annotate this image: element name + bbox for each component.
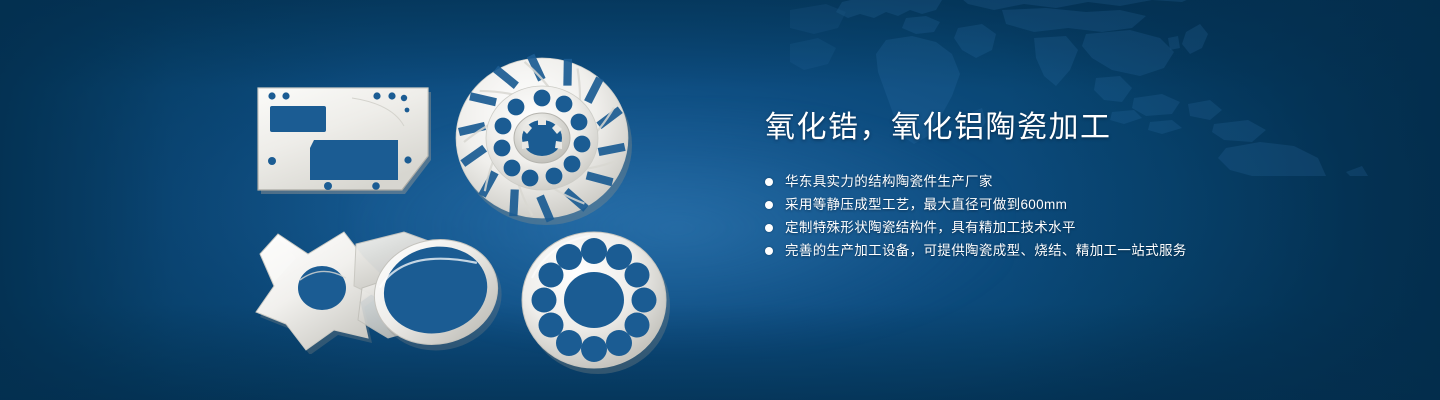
bullet-dot-icon	[765, 178, 773, 186]
ceramic-perforated-flange-image	[516, 228, 672, 374]
page-title: 氧化锆，氧化铝陶瓷加工	[765, 108, 1365, 148]
ceramic-machined-plate-image	[252, 78, 438, 200]
ceramic-products-group	[0, 0, 720, 400]
bullet-dot-icon	[765, 247, 773, 255]
feature-text: 华东具实力的结构陶瓷件生产厂家	[785, 170, 993, 193]
list-item: 完善的生产加工设备，可提供陶瓷成型、烧结、精加工一站式服务	[765, 239, 1365, 262]
feature-text: 定制特殊形状陶瓷结构件，具有精加工技术水平	[785, 216, 1076, 239]
bullet-dot-icon	[765, 224, 773, 232]
ceramic-ring-image	[352, 226, 514, 362]
list-item: 采用等静压成型工艺，最大直径可做到600mm	[765, 193, 1365, 216]
feature-text: 完善的生产加工设备，可提供陶瓷成型、烧结、精加工一站式服务	[785, 239, 1187, 262]
banner-copy: 氧化锆，氧化铝陶瓷加工 华东具实力的结构陶瓷件生产厂家 采用等静压成型工艺，最大…	[765, 108, 1365, 262]
ceramic-vane-impeller-image	[448, 52, 636, 230]
feature-text: 采用等静压成型工艺，最大直径可做到600mm	[785, 193, 1067, 216]
list-item: 定制特殊形状陶瓷结构件，具有精加工技术水平	[765, 216, 1365, 239]
hero-banner: 氧化锆，氧化铝陶瓷加工 华东具实力的结构陶瓷件生产厂家 采用等静压成型工艺，最大…	[0, 0, 1440, 400]
bullet-dot-icon	[765, 201, 773, 209]
list-item: 华东具实力的结构陶瓷件生产厂家	[765, 170, 1365, 193]
feature-list: 华东具实力的结构陶瓷件生产厂家 采用等静压成型工艺，最大直径可做到600mm 定…	[765, 170, 1365, 262]
